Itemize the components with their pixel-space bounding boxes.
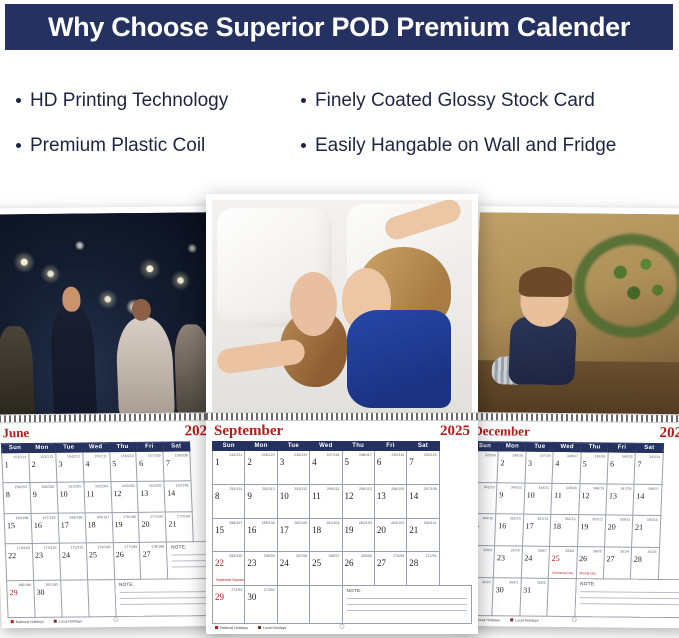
day-cell[interactable]: 21264/101 [407, 518, 439, 552]
julian-day: 262/103 [359, 521, 372, 525]
day-number: 5 [583, 459, 587, 468]
month-name: December [473, 424, 530, 438]
product-infographic-page: Why Choose Superior POD Premium Calender… [0, 0, 679, 638]
julian-day: 172/194 [177, 514, 190, 518]
day-cell[interactable]: 10253/112 [277, 484, 309, 518]
day-cell[interactable]: 6157/209 [136, 451, 164, 482]
feature-item-1: Finely Coated Glossy Stock Card [301, 90, 671, 112]
day-cell[interactable]: 27270/95 [374, 552, 406, 586]
weekday-header: Mon [28, 443, 55, 452]
weekday-header: Wed [82, 443, 109, 452]
julian-day: 163/203 [122, 484, 135, 488]
julian-day: 166/200 [16, 516, 29, 520]
day-number: 5 [345, 457, 350, 467]
calendar-photo-wedding [0, 212, 216, 414]
day-number: 5 [112, 459, 116, 468]
day-number: 20 [141, 519, 149, 528]
julian-day: 354/11 [620, 518, 631, 522]
day-number: 2 [31, 460, 35, 469]
day-number: 11 [312, 491, 321, 501]
bullet-icon [16, 98, 21, 103]
day-number: 24 [62, 551, 70, 560]
julian-day: 247/118 [327, 453, 340, 457]
julian-day: 342/23 [484, 485, 495, 489]
day-cell[interactable]: 2153/213 [29, 452, 57, 483]
julian-day: 259/106 [262, 521, 275, 525]
julian-day: 160/206 [41, 485, 54, 489]
julian-day: 175/191 [71, 545, 84, 549]
day-cell[interactable]: 31365/0 [520, 578, 549, 617]
note-label: NOTE: [580, 581, 679, 587]
julian-day: 264/101 [424, 521, 437, 525]
day-number: 9 [499, 490, 503, 499]
calendar-left-june: June 2025 SunMonTueWedThuFriSat1152/2142… [0, 206, 230, 628]
day-cell[interactable]: 23357/8 [494, 546, 523, 578]
day-cell[interactable]: 9343/22 [496, 482, 525, 514]
julian-day: 261/104 [327, 521, 340, 525]
week-row: 1335/302336/293337/284338/275339/266340/… [470, 451, 679, 485]
julian-day: 158/208 [175, 453, 188, 457]
weekday-header: Fri [608, 443, 636, 452]
julian-day: 169/197 [96, 515, 109, 519]
julian-day: 257/108 [424, 487, 437, 491]
day-cell[interactable]: 9160/206 [30, 483, 58, 514]
day-cell[interactable]: 16259/106 [245, 518, 277, 552]
legend-left: National Holidays Local Holidays [8, 616, 224, 624]
day-number: 9 [33, 490, 37, 499]
feature-item-2: Premium Plastic Coil [16, 135, 301, 157]
day-number: 9 [247, 491, 252, 501]
day-number: 30 [496, 585, 504, 594]
day-number: 10 [280, 491, 289, 501]
julian-day: 341/24 [649, 455, 660, 459]
day-number: 23 [497, 553, 505, 562]
day-number: 29 [215, 592, 224, 602]
day-number: 24 [280, 558, 289, 568]
julian-day: 364/1 [509, 580, 518, 584]
day-cell[interactable]: 5248/117 [342, 451, 374, 485]
julian-day: 344/21 [538, 485, 549, 489]
day-cell[interactable]: 28362/3 [631, 547, 660, 579]
day-number: 27 [377, 558, 386, 568]
week-row: 8251/1149252/11310253/11211254/11112255/… [213, 484, 472, 518]
julian-day: 246/119 [294, 453, 307, 457]
day-number: 3 [58, 460, 62, 469]
day-cell[interactable] [87, 580, 115, 617]
julian-day: 348/17 [648, 487, 659, 491]
day-number: 1 [5, 460, 9, 469]
day-number: 30 [247, 592, 256, 602]
day-number: 15 [7, 521, 15, 530]
legend-national: National Holidays [215, 626, 248, 630]
weekday-header: Thu [109, 442, 136, 451]
julian-day: 170/196 [123, 515, 136, 519]
day-cell[interactable]: 23174/192 [32, 543, 60, 580]
legend-local: Local Holidays [54, 619, 83, 623]
julian-day: 349/16 [482, 516, 493, 520]
day-event: September Equinox [216, 579, 244, 583]
julian-day: 155/211 [94, 454, 107, 458]
julian-day: 253/112 [294, 487, 307, 491]
julian-day: 154/212 [67, 454, 80, 458]
julian-day: 359/6 [565, 549, 574, 553]
week-row: 15258/10716259/10617260/10518261/1041926… [213, 518, 472, 552]
day-cell[interactable]: 5156/210 [109, 451, 137, 482]
julian-day: 152/214 [13, 455, 26, 459]
julian-day: 351/14 [537, 517, 548, 521]
day-number: 3 [528, 459, 532, 468]
header-banner: Why Choose Superior POD Premium Calender [5, 4, 673, 50]
day-cell[interactable]: 9252/113 [245, 484, 277, 518]
day-cell[interactable]: 18352/13 [550, 515, 579, 547]
julian-day: 360/5 [593, 549, 602, 553]
day-number: 20 [608, 523, 616, 532]
weekday-header: Fri [136, 442, 163, 451]
julian-day: 356/9 [483, 548, 492, 552]
julian-day: 245/120 [262, 453, 275, 457]
day-number: 25 [312, 558, 321, 568]
weekday-header: Sun [213, 442, 245, 451]
day-cell[interactable]: 6249/116 [374, 451, 406, 485]
day-number: 7 [166, 459, 170, 468]
day-number: 21 [168, 519, 176, 528]
week-row: 22265/100September Equinox23266/9924267/… [213, 552, 472, 586]
day-number: 10 [527, 490, 535, 499]
calendar-grid-left: June 2025 SunMonTueWedThuFriSat1152/2142… [0, 421, 230, 628]
legend-local: Local Holidays [510, 618, 539, 622]
day-cell[interactable]: 25176/190 [86, 543, 114, 580]
day-cell[interactable]: 5339/26 [580, 452, 609, 484]
day-number: 15 [215, 525, 224, 535]
day-number: 23 [247, 558, 256, 568]
weekday-header: Sun [1, 444, 28, 453]
week-row: 29180/18630181/185NOTE: [7, 578, 223, 617]
day-number: 26 [345, 558, 354, 568]
month-header-right: December 2025 [471, 423, 679, 443]
day-cell[interactable]: 4247/118 [310, 451, 342, 485]
day-cell[interactable]: 30364/1 [492, 577, 521, 616]
julian-day: 350/15 [510, 517, 521, 521]
day-cell[interactable]: 19262/103 [342, 518, 374, 552]
julian-day: 345/20 [566, 486, 577, 490]
day-cell[interactable]: 10161/205 [57, 482, 85, 513]
day-cell[interactable]: 22173/193 [5, 544, 33, 581]
julian-day: 260/105 [294, 521, 307, 525]
weekday-header: Wed [310, 442, 342, 451]
day-cell[interactable]: 23266/99 [245, 552, 277, 586]
day-number: 14 [409, 491, 418, 501]
day-cell[interactable]: 27178/188 [140, 542, 168, 579]
day-number: 25 [89, 550, 97, 559]
julian-day: 174/192 [44, 546, 57, 550]
day-cell[interactable]: 29180/186 [7, 580, 35, 617]
day-cell[interactable]: 24358/7 [521, 546, 550, 578]
day-cell[interactable]: 16167/199 [31, 513, 59, 544]
day-cell[interactable]: 12255/110 [342, 484, 374, 518]
day-number: 14 [636, 491, 644, 500]
day-cell[interactable]: 14348/17 [633, 484, 662, 516]
day-cell[interactable]: 12163/203 [110, 482, 138, 513]
day-event: Boxing Day [579, 572, 595, 576]
day-cell[interactable]: 19170/196 [112, 512, 140, 543]
day-cell[interactable]: 15258/107 [213, 518, 245, 552]
feature-label: Premium Plastic Coil [30, 135, 205, 157]
julian-day: 357/8 [511, 548, 520, 552]
day-cell[interactable]: 1152/214 [2, 453, 30, 484]
day-number: 28 [409, 558, 418, 568]
julian-day: 343/22 [511, 485, 522, 489]
julian-day: 252/113 [262, 487, 275, 491]
day-cell[interactable]: 18261/104 [310, 518, 342, 552]
day-cell[interactable]: 3246/119 [277, 451, 309, 485]
day-cell[interactable]: 11345/20 [551, 483, 580, 515]
day-number: 7 [409, 457, 414, 467]
day-number: 8 [6, 491, 10, 500]
day-cell[interactable]: 17168/198 [58, 513, 86, 544]
day-cell[interactable]: 20354/11 [604, 515, 633, 547]
day-number: 17 [525, 522, 533, 531]
julian-day: 159/207 [14, 485, 27, 489]
day-number: 10 [59, 490, 67, 499]
day-number: 4 [85, 459, 89, 468]
day-number: 31 [523, 585, 531, 594]
day-cell[interactable]: 17260/105 [277, 518, 309, 552]
day-number: 12 [345, 491, 354, 501]
day-cell[interactable]: 4338/27 [552, 451, 581, 483]
julian-day: 258/107 [229, 521, 242, 525]
day-number: 2 [247, 457, 252, 467]
julian-day: 270/95 [393, 554, 404, 558]
day-cell[interactable]: 11254/111 [310, 484, 342, 518]
year-label: 2025 [440, 424, 470, 439]
month-table-right: SunMonTueWedThuFriSat1335/302336/293337/… [464, 441, 679, 618]
day-cell[interactable] [60, 580, 88, 617]
day-number: 14 [167, 489, 175, 498]
day-number: 13 [140, 489, 148, 498]
julian-day: 273/92 [264, 588, 275, 592]
day-cell[interactable]: 21355/10 [632, 515, 661, 547]
day-cell[interactable]: 24267/98 [277, 552, 309, 586]
day-number: 22 [8, 551, 16, 560]
week-row: 15349/1616350/1517351/1418352/1319353/12… [468, 514, 679, 548]
julian-day: 173/193 [17, 546, 30, 550]
day-number: 17 [280, 525, 289, 535]
day-cell[interactable]: 8251/114 [213, 484, 245, 518]
day-number: 13 [377, 491, 386, 501]
bullet-icon [16, 143, 21, 148]
day-number: 11 [554, 491, 562, 500]
week-row: 1152/2142153/2133154/2124155/2115156/210… [2, 451, 218, 484]
julian-day: 268/97 [329, 554, 340, 558]
julian-day: 267/98 [296, 554, 307, 558]
day-cell[interactable]: 20171/195 [139, 512, 167, 543]
day-cell[interactable]: 2336/29 [497, 451, 526, 483]
day-number: 20 [377, 525, 386, 535]
day-number: 16 [498, 522, 506, 531]
day-number: 11 [86, 490, 94, 499]
day-number: 25 [552, 554, 560, 563]
day-number: 16 [34, 521, 42, 530]
day-number: 6 [377, 457, 382, 467]
day-cell[interactable] [277, 586, 309, 624]
day-number: 17 [61, 520, 69, 529]
day-cell[interactable]: 19353/12 [577, 515, 606, 547]
julian-day: 347/18 [621, 486, 632, 490]
calendar-photo-couple [212, 200, 472, 412]
day-cell[interactable]: 15166/200 [4, 513, 32, 544]
day-cell[interactable]: 18169/197 [85, 512, 113, 543]
day-cell[interactable]: 13256/109 [374, 484, 406, 518]
day-number: 22 [215, 558, 224, 568]
week-row: 1244/1212245/1203246/1194247/1185248/117… [213, 451, 472, 485]
julian-day: 271/94 [426, 554, 437, 558]
week-row: 15166/20016167/19917168/19818169/1971917… [4, 511, 220, 544]
weekday-header: Tue [55, 443, 82, 452]
day-cell[interactable]: 4155/211 [82, 452, 110, 483]
weekday-header: Tue [277, 442, 309, 451]
month-table-center: SunMonTueWedThuFriSat1244/1212245/120324… [212, 441, 472, 624]
julian-day: 153/213 [40, 455, 53, 459]
day-cell[interactable]: 2245/120 [245, 451, 277, 485]
legend-right: National Holidays Local Holidays [464, 616, 679, 624]
weekday-header: Tue [526, 442, 554, 451]
feature-label: Finely Coated Glossy Stock Card [315, 90, 595, 112]
day-cell[interactable]: 1244/121 [213, 451, 245, 485]
julian-day: 251/114 [230, 487, 243, 491]
day-cell[interactable]: 26177/189 [113, 542, 141, 579]
day-number: 27 [606, 554, 614, 563]
note-cell[interactable]: NOTE: [342, 586, 472, 624]
day-cell[interactable]: 7341/24 [634, 452, 663, 484]
day-cell[interactable]: 25268/97 [310, 552, 342, 586]
feature-list: HD Printing Technology Finely Coated Glo… [16, 78, 671, 168]
day-number: 16 [247, 525, 256, 535]
wedding-sparklers-image [0, 212, 216, 414]
day-number: 26 [116, 550, 124, 559]
day-cell[interactable]: 14165/201 [164, 481, 192, 512]
calendar-showcase: June 2025 SunMonTueWedThuFriSat1152/2142… [0, 178, 679, 638]
month-header-center: September 2025 [212, 423, 472, 441]
calendar-grid-center: September 2025 SunMonTueWedThuFriSat1244… [206, 421, 478, 634]
day-cell[interactable]: 28271/94 [407, 552, 439, 586]
day-number: 21 [635, 523, 643, 532]
day-number: 27 [142, 550, 150, 559]
julian-day: 180/186 [18, 583, 31, 587]
day-cell[interactable]: 8159/207 [3, 483, 31, 514]
day-cell[interactable]: 17351/14 [522, 514, 551, 546]
julian-day: 165/201 [176, 484, 189, 488]
legend-national: National Holidays [11, 620, 44, 624]
day-cell[interactable]: 7158/208 [163, 451, 191, 482]
month-name: June [2, 426, 29, 439]
julian-day: 250/115 [424, 453, 437, 457]
julian-day: 337/28 [540, 454, 551, 458]
month-name: September [214, 424, 283, 439]
couple-on-bed-image [212, 200, 472, 412]
julian-day: 164/202 [149, 484, 162, 488]
note-cell[interactable]: NOTE: [574, 578, 679, 618]
day-number: 18 [312, 525, 321, 535]
calendar-right-december: December 2025 SunMonTueWedThuFriSat1335/… [458, 206, 679, 628]
day-number: 12 [581, 491, 589, 500]
julian-day: 256/109 [391, 487, 404, 491]
julian-day: 336/29 [512, 453, 523, 457]
day-cell[interactable] [547, 578, 576, 617]
week-row: 22173/19323174/19224175/19125176/1902617… [5, 542, 221, 581]
day-cell[interactable]: 11162/204 [84, 482, 112, 513]
day-cell[interactable]: 3154/212 [56, 452, 84, 483]
julian-day: 249/116 [392, 453, 405, 457]
legend-local: Local Holidays [258, 626, 286, 630]
day-cell[interactable]: 30273/92 [245, 586, 277, 624]
day-number: 19 [114, 520, 122, 529]
day-number: 26 [579, 554, 587, 563]
julian-day: 248/117 [359, 453, 372, 457]
julian-day: 358/7 [538, 549, 547, 553]
weekday-header: Sat [635, 443, 663, 452]
weekday-header: Sat [163, 442, 190, 451]
day-number: 30 [36, 588, 44, 597]
day-cell[interactable]: 26269/96 [342, 552, 374, 586]
day-cell[interactable]: 3337/28 [525, 451, 554, 483]
hang-hole-icon [113, 617, 118, 622]
julian-day: 263/102 [391, 521, 404, 525]
day-cell[interactable]: 13347/18 [606, 484, 635, 516]
note-label: NOTE: [119, 581, 218, 587]
day-cell[interactable]: 16350/15 [495, 514, 524, 546]
day-cell[interactable]: 22265/100September Equinox [213, 552, 245, 586]
julian-day: 353/12 [592, 518, 603, 522]
day-number: 4 [312, 457, 317, 467]
day-cell[interactable]: 12346/19 [578, 483, 607, 515]
julian-day: 335/30 [485, 453, 496, 457]
weekday-header: Sat [407, 442, 439, 451]
day-cell[interactable]: 24175/191 [59, 543, 87, 580]
julian-day: 361/4 [620, 549, 629, 553]
day-cell[interactable]: 10344/21 [524, 483, 553, 515]
day-cell[interactable]: 20263/102 [374, 518, 406, 552]
day-cell[interactable]: 25359/6Christmas Day [548, 546, 577, 578]
bullet-icon [301, 98, 306, 103]
day-cell[interactable]: 6340/25 [607, 452, 636, 484]
day-number: 4 [555, 459, 559, 468]
julian-day: 162/204 [95, 485, 108, 489]
feature-item-3: Easily Hangable on Wall and Fridge [301, 135, 671, 157]
hang-hole-icon [572, 617, 577, 622]
day-cell[interactable] [310, 586, 342, 624]
day-cell[interactable]: 7250/115 [407, 451, 439, 485]
day-cell[interactable]: 26360/5Boxing Day [576, 546, 605, 578]
feature-label: HD Printing Technology [30, 90, 228, 112]
day-cell[interactable]: 14257/108 [407, 484, 439, 518]
julian-day: 363/2 [482, 580, 491, 584]
julian-day: 181/185 [45, 583, 58, 587]
day-number: 6 [610, 459, 614, 468]
day-cell[interactable]: 13164/202 [137, 481, 165, 512]
julian-day: 352/13 [565, 517, 576, 521]
julian-day: 156/210 [121, 454, 134, 458]
day-number: 12 [113, 489, 121, 498]
julian-day: 362/3 [647, 550, 656, 554]
julian-day: 171/195 [150, 514, 163, 518]
julian-day: 168/198 [69, 515, 82, 519]
day-cell[interactable]: 27361/4 [603, 547, 632, 579]
day-cell[interactable]: 29272/93 [213, 586, 245, 624]
day-cell[interactable]: 21172/194 [165, 511, 193, 542]
day-cell[interactable]: 30181/185 [34, 580, 62, 617]
day-number: 29 [9, 588, 17, 597]
week-row: 8159/2079160/20610161/20511162/20412163/… [3, 481, 219, 514]
